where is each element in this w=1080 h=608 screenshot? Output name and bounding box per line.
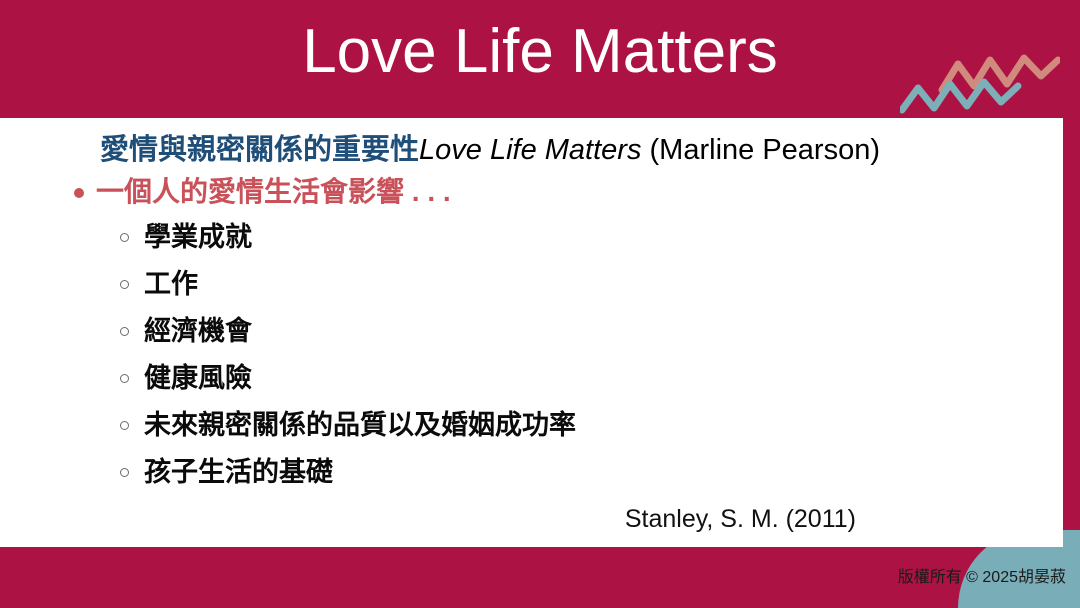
hollow-circle-bullet-icon: [120, 374, 129, 383]
content-panel: 愛情與親密關係的重要性Love Life Matters (Marline Pe…: [0, 118, 1063, 547]
hollow-circle-bullet-icon: [120, 421, 129, 430]
list-item: 工作: [120, 263, 1020, 310]
heading-author: (Marline Pearson): [641, 134, 880, 166]
list-item: 未來親密關係的品質以及婚姻成功率: [120, 404, 1020, 451]
list-item-label: 經濟機會: [144, 310, 252, 353]
list-item: 經濟機會: [120, 310, 1020, 357]
slide: Love Life Matters 愛情與親密關係的重要性Love Life M…: [0, 0, 1080, 608]
bullet-level1-label: 一個人的愛情生活會影響 . . .: [96, 172, 451, 212]
list-item: 學業成就: [120, 216, 1020, 263]
list-item-label: 未來親密關係的品質以及婚姻成功率: [144, 404, 576, 447]
bullet-level1: 一個人的愛情生活會影響 . . .: [74, 172, 451, 212]
list-item-label: 孩子生活的基礎: [144, 451, 333, 494]
hollow-circle-bullet-icon: [120, 280, 129, 289]
salmon-zigzag: [942, 58, 1058, 90]
body-heading-line: 愛情與親密關係的重要性Love Life Matters (Marline Pe…: [100, 130, 880, 170]
copyright-text: 版權所有 © 2025胡晏菽: [898, 567, 1066, 589]
hollow-circle-bullet-icon: [120, 233, 129, 242]
list-item-label: 學業成就: [144, 216, 252, 259]
citation: Stanley, S. M. (2011): [0, 503, 856, 535]
list-item-label: 健康風險: [144, 357, 252, 400]
zigzag-decoration: [900, 52, 1060, 114]
teal-zigzag: [902, 82, 1018, 110]
footer-bar: 版權所有 © 2025胡晏菽: [0, 547, 1080, 608]
filled-circle-bullet-icon: [74, 188, 84, 198]
list-item: 健康風險: [120, 357, 1020, 404]
list-item-label: 工作: [144, 263, 198, 306]
zigzag-svg: [900, 52, 1060, 114]
list-item: 孩子生活的基礎: [120, 451, 1020, 498]
hollow-circle-bullet-icon: [120, 468, 129, 477]
heading-chinese: 愛情與親密關係的重要性: [100, 134, 419, 166]
heading-english-italic: Love Life Matters: [419, 134, 641, 166]
body-content: 愛情與親密關係的重要性Love Life Matters (Marline Pe…: [0, 118, 1063, 547]
bullet-level2-list: 學業成就 工作 經濟機會 健康風險 未來親密關係的品質以及婚姻成功率: [120, 216, 1020, 498]
hollow-circle-bullet-icon: [120, 327, 129, 336]
